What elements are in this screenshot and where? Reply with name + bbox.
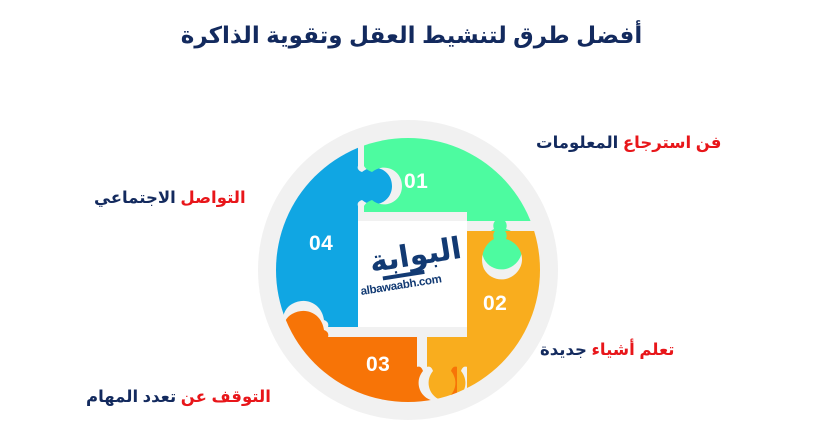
label-piece-04-base: الاجتماعي	[94, 189, 176, 207]
label-piece-02: تعلم أشياء جديدة	[540, 340, 675, 361]
label-piece-04: التواصل الاجتماعي	[94, 188, 246, 209]
label-piece-03: التوقف عن تعدد المهام	[86, 387, 271, 408]
puzzle-infographic: 01 02 03 04 البوابة albawaabh.com فن است…	[0, 0, 823, 447]
label-piece-01-accent: فن استرجاع	[623, 134, 721, 152]
puzzle-diagram	[0, 0, 823, 447]
label-piece-04-accent: التواصل	[180, 189, 245, 207]
label-piece-01-base: المعلومات	[536, 134, 618, 152]
label-piece-02-base: جديدة	[540, 341, 587, 359]
label-piece-03-base: تعدد المهام	[86, 388, 176, 406]
puzzle-center-plate	[358, 221, 467, 327]
label-piece-01: فن استرجاع المعلومات	[536, 133, 721, 154]
label-piece-02-accent: تعلم أشياء	[591, 341, 674, 359]
label-piece-03-accent: التوقف عن	[181, 388, 271, 406]
